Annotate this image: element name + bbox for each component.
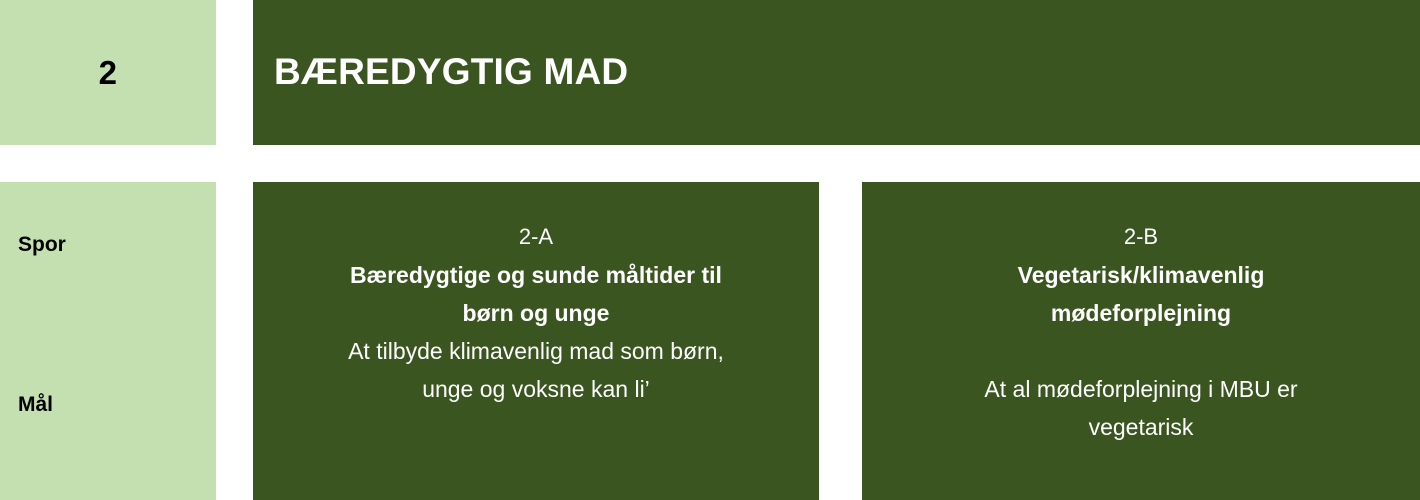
track-title: Vegetarisk/klimavenlig mødeforplejning — [880, 256, 1402, 332]
theme-number-badge: 2 — [0, 0, 216, 145]
track-code: 2-A — [271, 218, 801, 256]
slide-canvas: 2 BÆREDYGTIG MAD Spor Mål 2-A Bæredygtig… — [0, 0, 1420, 500]
track-goal: At al mødeforplejning i MBU er vegetaris… — [880, 370, 1402, 446]
row-label-track: Spor — [18, 234, 66, 255]
track-text-spacer — [880, 332, 1402, 370]
track-goal: At tilbyde klimavenlig mad som børn, ung… — [271, 332, 801, 408]
track-card-2a[interactable]: 2-A Bæredygtige og sunde måltider til bø… — [253, 182, 819, 500]
row-label-goal: Mål — [18, 394, 53, 415]
page-title: BÆREDYGTIG MAD — [253, 53, 628, 92]
track-title: Bæredygtige og sunde måltider til børn o… — [271, 256, 801, 332]
track-card-2b[interactable]: 2-B Vegetarisk/klimavenlig mødeforplejni… — [862, 182, 1420, 500]
theme-title-bar: BÆREDYGTIG MAD — [253, 0, 1420, 145]
track-code: 2-B — [880, 218, 1402, 256]
row-label-column: Spor Mål — [0, 182, 216, 500]
theme-number: 2 — [99, 56, 118, 89]
